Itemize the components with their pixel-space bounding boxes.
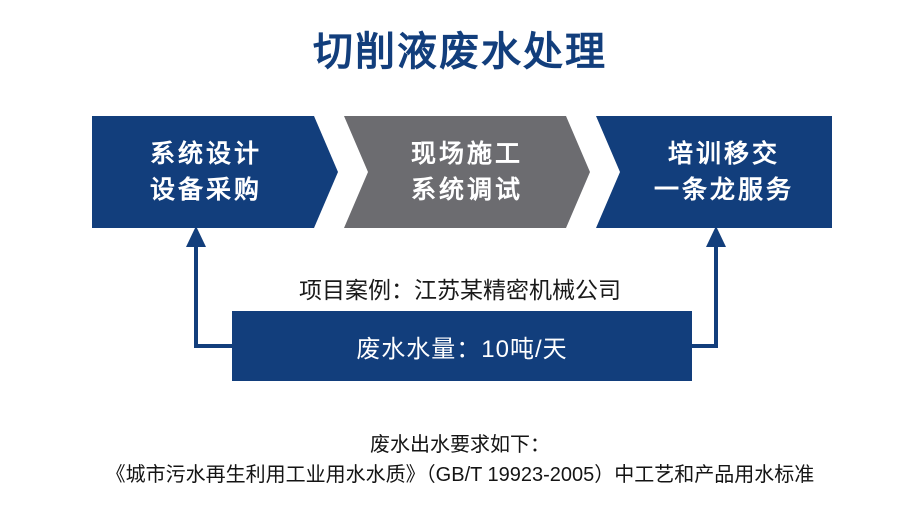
process-step-3-line1: 培训移交 bbox=[668, 136, 780, 172]
process-step-2-line2: 系统调试 bbox=[411, 172, 523, 208]
slide-canvas: 切削液废水处理 系统设计 设备采购 现场施工 系统调试 培训移交 一条龙服务 项… bbox=[0, 0, 920, 517]
process-step-1[interactable]: 系统设计 设备采购 bbox=[92, 116, 338, 228]
wastewater-volume-bar: 废水水量：10吨/天 bbox=[232, 311, 692, 381]
project-case-label: 项目案例：江苏某精密机械公司 bbox=[0, 271, 920, 305]
footer-line-2: 《城市污水再生利用工业用水水质》（GB/T 19923-2005）中工艺和产品用… bbox=[0, 460, 920, 490]
process-chevron-row: 系统设计 设备采购 现场施工 系统调试 培训移交 一条龙服务 bbox=[92, 116, 832, 228]
process-step-1-line2: 设备采购 bbox=[150, 172, 262, 208]
process-step-2[interactable]: 现场施工 系统调试 bbox=[344, 116, 590, 228]
footer-notes: 废水出水要求如下： 《城市污水再生利用工业用水水质》（GB/T 19923-20… bbox=[0, 430, 920, 490]
process-step-3-line2: 一条龙服务 bbox=[654, 172, 794, 208]
footer-line-1: 废水出水要求如下： bbox=[0, 430, 920, 460]
page-title: 切削液废水处理 bbox=[0, 28, 920, 76]
wastewater-volume-text: 废水水量：10吨/天 bbox=[356, 329, 567, 364]
process-step-1-line1: 系统设计 bbox=[150, 136, 262, 172]
process-step-3[interactable]: 培训移交 一条龙服务 bbox=[596, 116, 832, 228]
process-step-2-line1: 现场施工 bbox=[411, 136, 523, 172]
